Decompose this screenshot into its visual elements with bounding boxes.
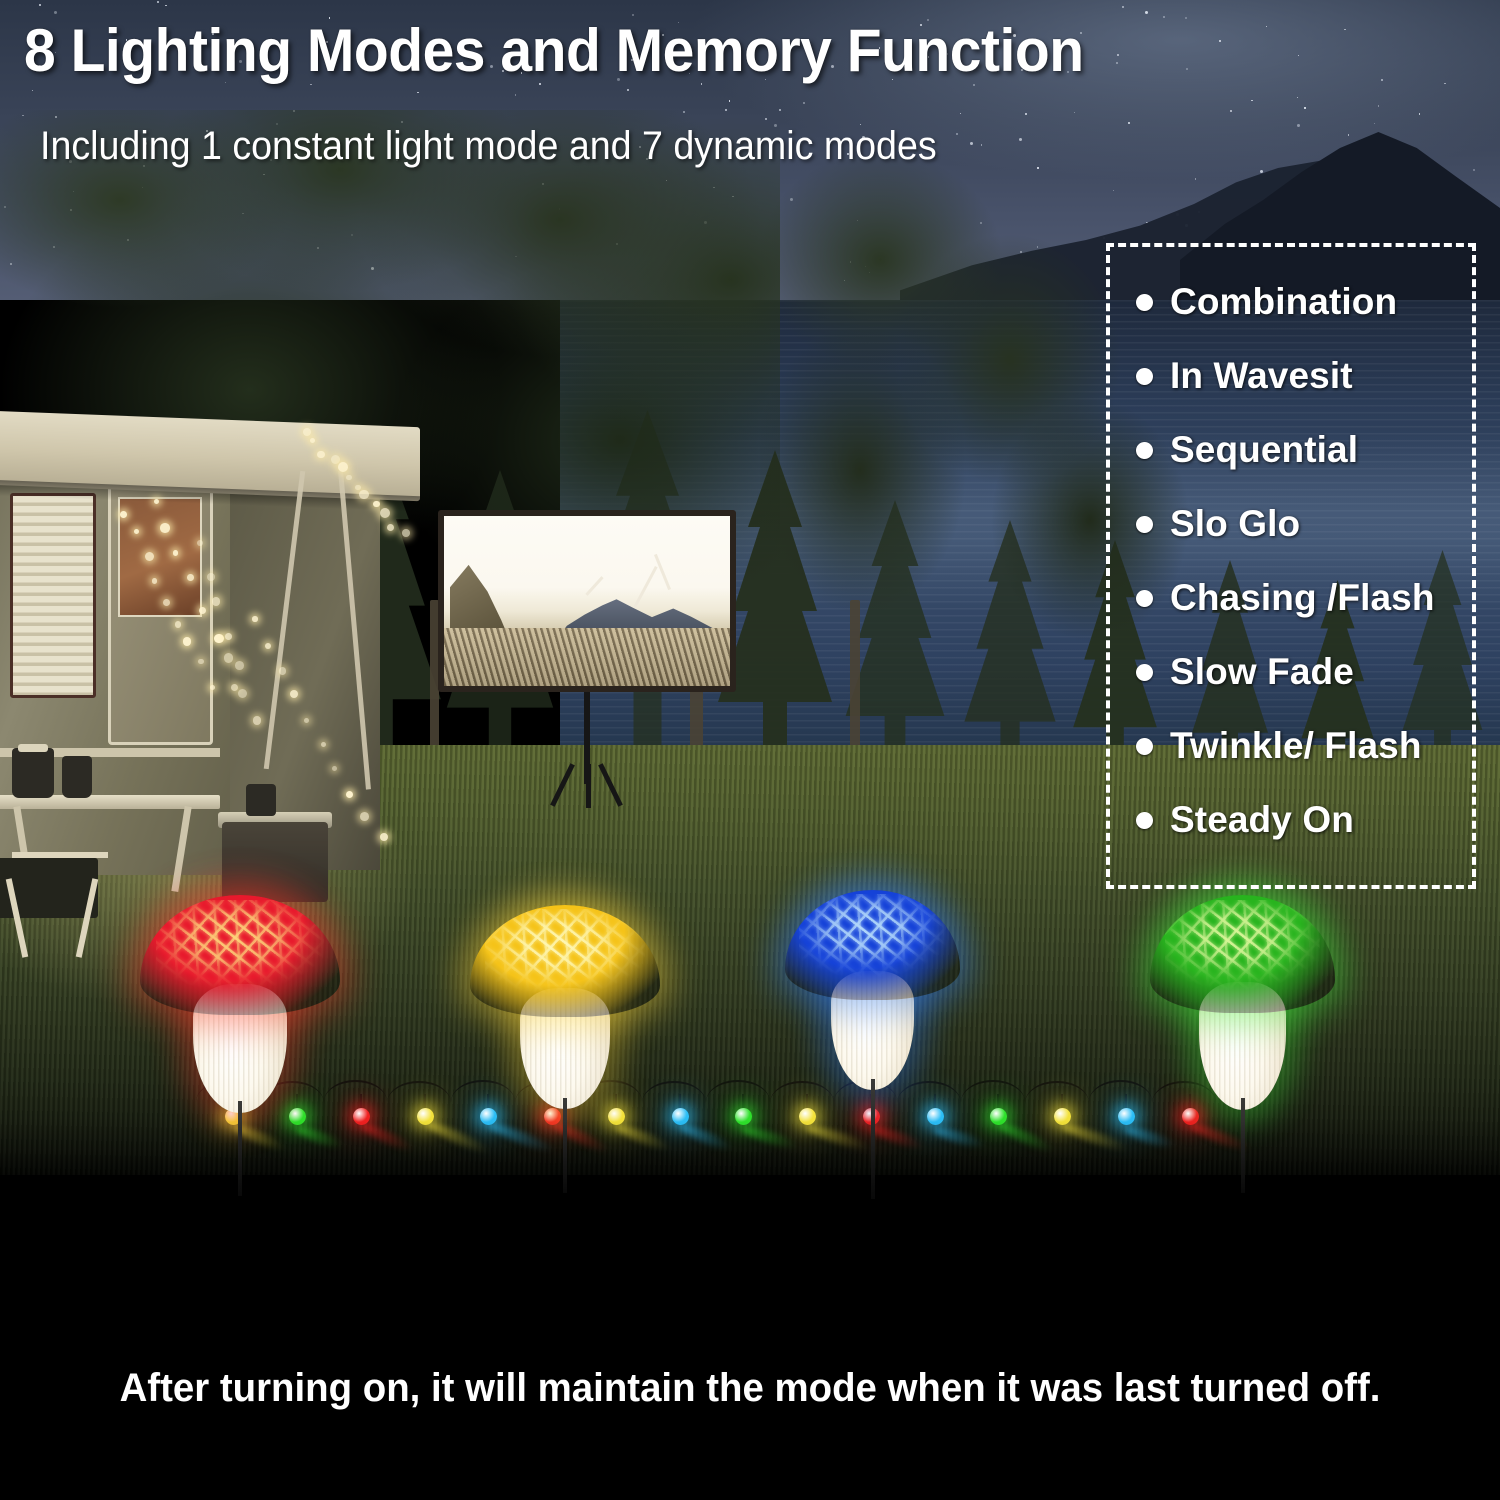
star [1304,107,1305,108]
star [1444,83,1445,84]
projector-screen-frame [438,510,736,692]
memory-function-caption: After turning on, it will maintain the m… [30,1366,1470,1411]
fairy-light-bulb [231,684,238,691]
mushroom-cap [1150,895,1335,1013]
star [1219,40,1221,42]
fairy-light-bulb [183,637,192,646]
fairy-light-bulb [207,573,215,581]
star [803,102,805,104]
fairy-light-bulb [198,659,203,664]
lighting-mode-label: Chasing /Flash [1170,577,1435,619]
star [32,90,33,91]
ground-string-lights [196,1078,1216,1114]
lighting-mode-item-3: Sequential [1136,413,1462,487]
camp-kettle [12,748,54,798]
star [1122,6,1123,7]
fairy-light-bulb [120,511,127,518]
fairy-light-bulb [380,508,390,518]
lighting-mode-label: Steady On [1170,799,1354,841]
lighting-mode-item-4: Slo Glo [1136,487,1462,561]
mushroom-cap [470,905,660,1017]
mushroom-cap-crackle-pattern [799,894,946,980]
screen-image-branch [654,554,671,590]
lighting-mode-item-2: In Wavesit [1136,339,1462,413]
fairy-light-bulb [214,634,224,644]
bullet-icon [1136,664,1153,681]
star [627,89,629,91]
fairy-light-bulb [346,475,351,480]
mushroom-cap-crackle-pattern [156,900,324,994]
screen-image-branch [634,566,658,608]
lighting-mode-label: Combination [1170,281,1397,323]
star [157,1,159,3]
star [165,5,166,6]
bullet-icon [1136,442,1153,459]
rv-window-blinds [10,493,96,698]
lighting-mode-item-1: Combination [1136,265,1462,339]
fairy-light-bulb [175,621,182,628]
fairy-light-bulb [402,529,410,537]
camp-chair-rail [12,852,108,858]
fairy-light-bulb [163,599,170,606]
fairy-light-bulb [310,438,315,443]
fairy-light-bulb [238,689,247,698]
star [417,92,418,93]
fairy-light-bulb [355,485,361,491]
fairy-light-bulb [212,597,221,606]
star [1298,55,1299,56]
mushroom-light-green [1150,895,1335,1133]
fairy-light-bulb [360,812,369,821]
lighting-modes-panel: CombinationIn WavesitSequentialSlo GloCh… [1106,243,1476,889]
fairy-light-bulb [380,833,388,841]
screen-image-branch [585,576,603,596]
fairy-light-bulb [145,552,154,561]
mushroom-light-red [140,895,340,1135]
fairy-light-bulb [290,690,298,698]
lighting-mode-label: Sequential [1170,429,1358,471]
fairy-light-bulb [152,578,158,584]
light-string-wire [961,1080,1025,1102]
fairy-light-bulb [265,643,271,649]
camp-pot [62,756,92,798]
star [729,100,730,101]
star [1251,100,1252,101]
fairy-light-bulb [252,616,258,622]
star [1163,16,1165,18]
star [1266,26,1267,27]
lighting-mode-label: In Wavesit [1170,355,1353,397]
lighting-mode-item-6: Slow Fade [1136,635,1462,709]
fairy-light-bulb [173,550,178,555]
fairy-light-bulb [235,661,244,670]
lighting-mode-label: Slow Fade [1170,651,1354,693]
lighting-mode-item-8: Steady On [1136,783,1462,857]
light-string-wire [706,1080,770,1102]
star [1117,54,1119,56]
camp-kettle-lid [18,744,48,752]
page-title: 8 Lighting Modes and Memory Function [24,16,1084,85]
screen-image-foreground [444,628,730,686]
star [1297,97,1298,98]
rv-door-window [118,497,202,617]
star [54,11,57,14]
star [39,4,41,6]
light-string-wire [1025,1081,1089,1103]
star [1145,11,1148,14]
fairy-light-bulb [279,667,286,674]
light-string-wire [387,1081,451,1103]
fairy-light-bulb [224,653,234,663]
star [1344,29,1345,30]
fairy-light-bulb [373,501,379,507]
fairy-light-bulb [304,718,309,723]
star [1381,79,1383,81]
lighting-mode-item-5: Chasing /Flash [1136,561,1462,635]
bottom-black-bar [0,1330,1500,1500]
lighting-mode-item-7: Twinkle/ Flash [1136,709,1462,783]
star [1116,62,1118,64]
bullet-icon [1136,294,1153,311]
lighting-mode-label: Twinkle/ Flash [1170,725,1422,767]
mushroom-cap-crackle-pattern [485,909,645,996]
fairy-light-bulb [160,523,170,533]
star [1185,17,1187,19]
mushroom-cap-crackle-pattern [1165,900,1320,992]
mushroom-light-blue [785,890,960,1120]
bullet-icon [1136,812,1153,829]
star [1378,105,1379,106]
star [1186,68,1188,70]
product-infographic: 8 Lighting Modes and Memory Function Inc… [0,0,1500,1500]
fairy-light-bulb [359,490,369,500]
page-subtitle: Including 1 constant light mode and 7 dy… [40,124,937,169]
bullet-icon [1136,590,1153,607]
mushroom-light-yellow [470,905,660,1137]
projector-screen-surface [444,516,730,686]
screen-stand-leg [586,764,591,808]
mushroom-cap [785,890,960,1000]
lighting-mode-label: Slo Glo [1170,503,1300,545]
fairy-light-bulb [346,791,353,798]
mushroom-cap [140,895,340,1015]
fairy-light-bulb [253,716,261,724]
bullet-icon [1136,368,1153,385]
bullet-icon [1136,738,1153,755]
cooler-handle [246,784,276,816]
star [515,94,516,95]
bullet-icon [1136,516,1153,533]
